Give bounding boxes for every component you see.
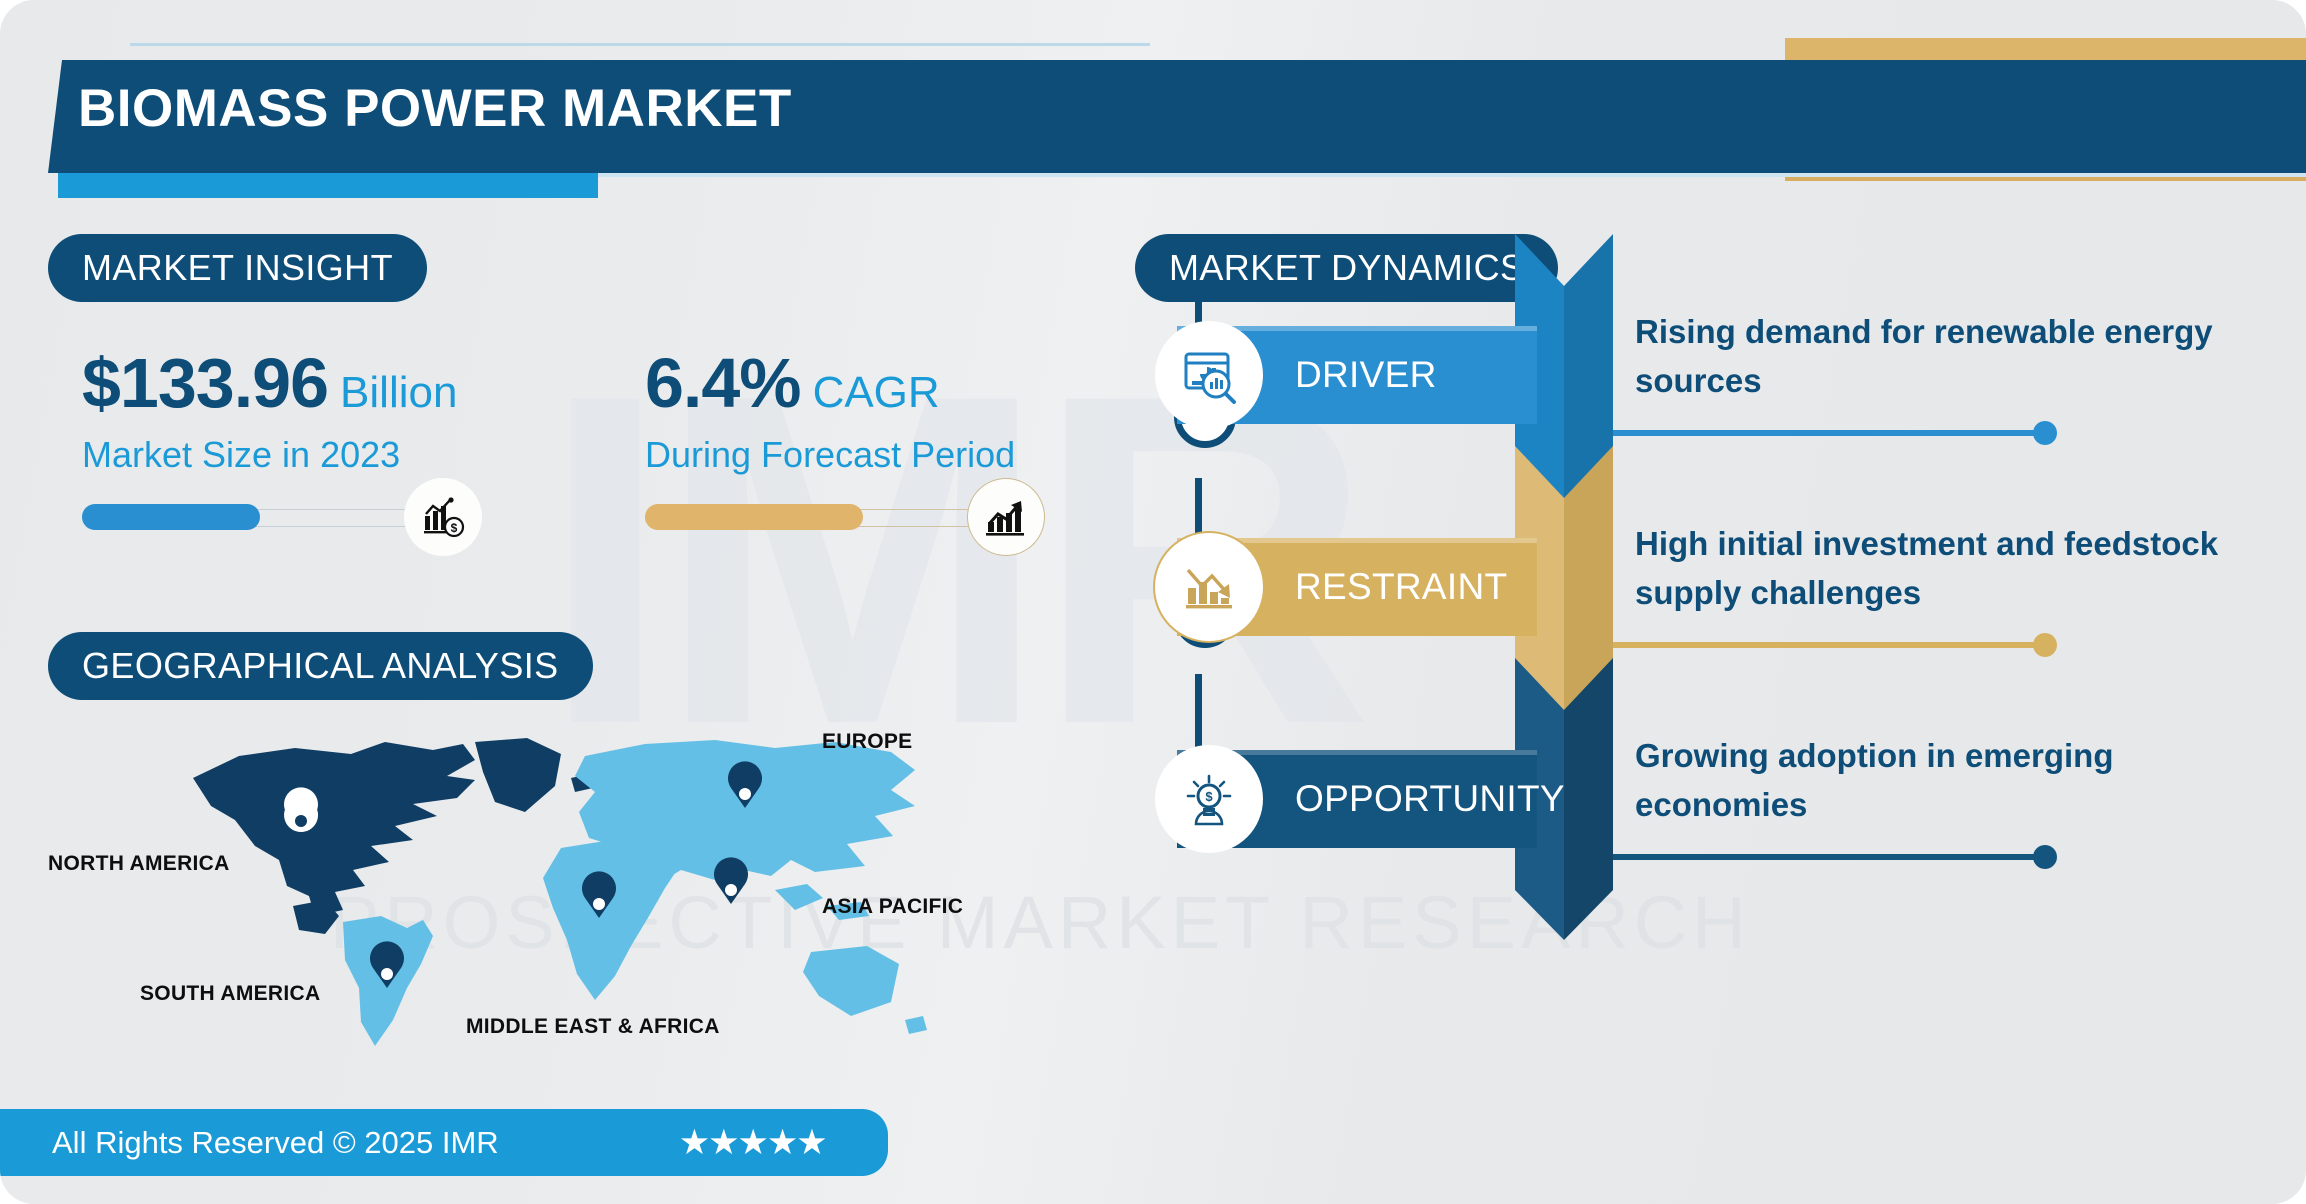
dynamics-row-restraint[interactable]: RESTRAINT High initial investment and fe…: [1135, 492, 2306, 682]
leader-dot: [2033, 421, 2057, 445]
dynamics-description: Rising demand for renewable energy sourc…: [1635, 308, 2215, 406]
leader-dot: [2033, 633, 2057, 657]
stat-unit: Billion: [340, 368, 457, 418]
footer-bar: All Rights Reserved © 2025 IMR ★★★★★: [0, 1109, 888, 1176]
stat-value: 6.4%: [645, 348, 801, 418]
header-thin-line: [130, 43, 1150, 46]
map-pin-north-america: [284, 787, 318, 832]
progress-track: $: [82, 504, 552, 530]
dynamics-label: OPPORTUNITY: [1295, 750, 1565, 848]
report-analysis-icon: [1155, 321, 1263, 429]
market-dynamics-list: DRIVER Rising demand for renewable energ…: [1135, 300, 2306, 1204]
copyright-text: All Rights Reserved © 2025 IMR: [52, 1125, 499, 1161]
ribbon-driver: DRIVER: [1177, 326, 1537, 424]
progress-fill: [645, 504, 863, 530]
progress-track: [645, 504, 1115, 530]
region-label-south-america: SOUTH AMERICA: [140, 982, 320, 1006]
dynamics-label: DRIVER: [1295, 326, 1437, 424]
section-heading-market-insight: MARKET INSIGHT: [48, 234, 427, 302]
svg-text:$: $: [451, 521, 458, 535]
map-pin-asia-pacific: [714, 857, 748, 904]
region-label-europe: EUROPE: [822, 730, 913, 754]
infographic-canvas: IMR PROSPECTIVE MARKET RESEARCH BIOMASS …: [0, 0, 2306, 1204]
stat-caption: Market Size in 2023: [82, 434, 552, 476]
svg-text:$: $: [1205, 789, 1213, 804]
ribbon-opportunity: $ OPPORTUNITY: [1177, 750, 1537, 848]
dynamics-label: RESTRAINT: [1295, 538, 1507, 636]
progress-fill: [82, 504, 260, 530]
dynamics-row-opportunity[interactable]: $ OPPORTUNITY Growi: [1135, 704, 2306, 894]
leader-line: [1613, 642, 2043, 648]
leader-line: [1613, 430, 2043, 436]
growth-chart-arrow-icon: [967, 478, 1045, 556]
leader-line: [1613, 854, 2043, 860]
stat-market-size: $133.96Billion Market Size in 2023 $: [82, 348, 552, 530]
page-title: BIOMASS POWER MARKET: [78, 78, 792, 139]
dynamics-description: High initial investment and feedstock su…: [1635, 520, 2235, 618]
dynamics-description: Growing adoption in emerging economies: [1635, 732, 2215, 830]
leader-dot: [2033, 845, 2057, 869]
stat-caption: During Forecast Period: [645, 434, 1115, 476]
stat-cagr: 6.4%CAGR During Forecast Period: [645, 348, 1115, 530]
bar-chart-dollar-icon: $: [404, 478, 482, 556]
section-heading-geographical-analysis: GEOGRAPHICAL ANALYSIS: [48, 632, 593, 700]
region-label-asia-pacific: ASIA PACIFIC: [822, 895, 963, 919]
declining-bar-chart-icon: [1155, 533, 1263, 641]
dynamics-row-driver[interactable]: DRIVER Rising demand for renewable energ…: [1135, 280, 2306, 470]
region-label-north-america: NORTH AMERICA: [48, 852, 230, 876]
rating-stars: ★★★★★: [679, 1123, 826, 1163]
stat-unit: CAGR: [813, 368, 940, 418]
region-label-middle-east-africa: MIDDLE EAST & AFRICA: [466, 1015, 720, 1039]
header-blue-accent: [58, 173, 598, 198]
lightbulb-dollar-icon: $: [1155, 745, 1263, 853]
stat-value: $133.96: [82, 348, 328, 418]
header-gold-accent-bottom: [1785, 177, 2306, 181]
ribbon-restraint: RESTRAINT: [1177, 538, 1537, 636]
